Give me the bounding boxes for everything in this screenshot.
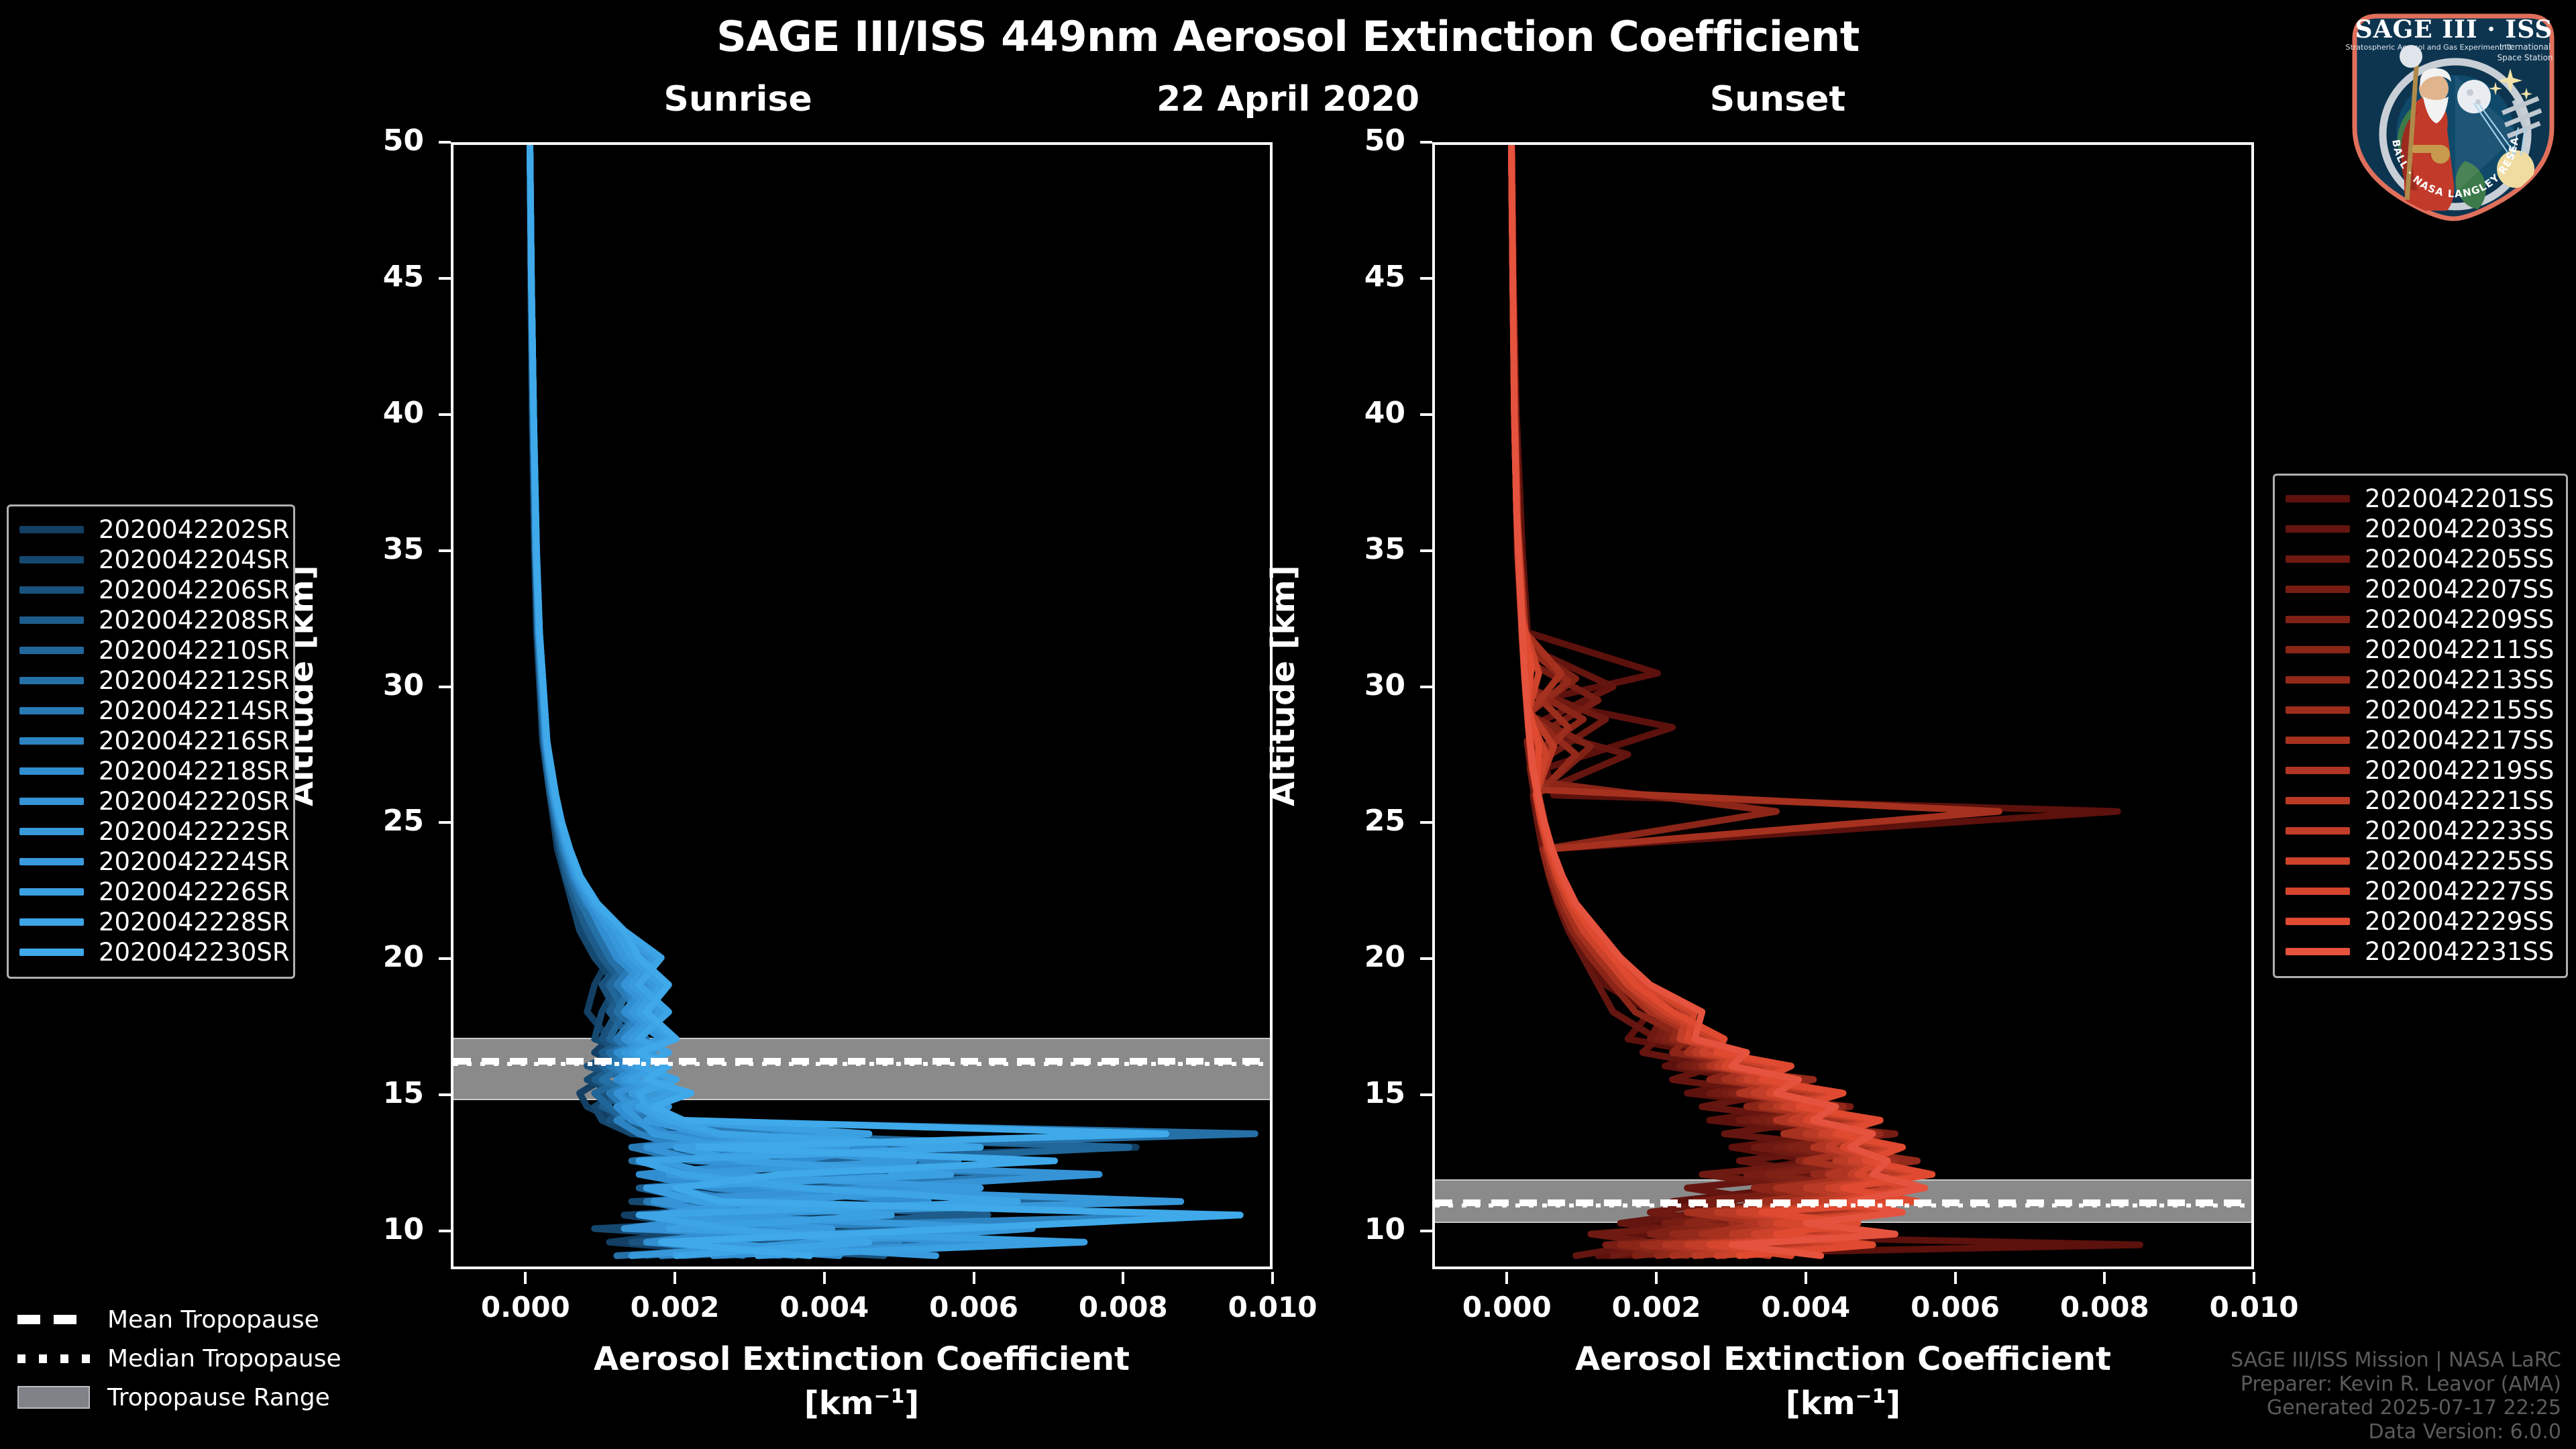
sunset-series-lines bbox=[1435, 145, 2251, 1267]
patch-subtitle-left: Stratospheric Aerosol and Gas Experiment… bbox=[2346, 43, 2512, 52]
legend-item[interactable]: 2020042203SS bbox=[2286, 514, 2554, 544]
x-tick-label: 0.010 bbox=[1199, 1291, 1346, 1324]
legend-item[interactable]: 2020042208SR bbox=[19, 605, 281, 635]
x-tick-mark bbox=[1505, 1272, 1508, 1284]
sunrise-x-axis-label: Aerosol Extinction Coefficient [km−1] bbox=[451, 1340, 1273, 1422]
legend-item-tropopause-range: Tropopause Range bbox=[5, 1378, 354, 1417]
y-tick-label: 35 bbox=[1305, 532, 1405, 566]
legend-color-swatch bbox=[2286, 827, 2350, 835]
x-tick-label: 0.002 bbox=[601, 1291, 749, 1324]
legend-color-swatch bbox=[19, 677, 84, 684]
y-tick-label: 50 bbox=[323, 123, 424, 158]
sunrise-series-lines bbox=[453, 145, 1270, 1267]
legend-item[interactable]: 2020042217SS bbox=[2286, 725, 2554, 755]
legend-item[interactable]: 2020042227SS bbox=[2286, 876, 2554, 906]
patch-subtitle-right-2: Space Station bbox=[2497, 53, 2553, 62]
legend-color-swatch bbox=[19, 647, 84, 654]
patch-belt-buckle bbox=[2431, 145, 2450, 164]
legend-item[interactable]: 2020042210SR bbox=[19, 635, 281, 665]
x-axis-unit: [km−1] bbox=[451, 1385, 1273, 1422]
x-tick-mark bbox=[1122, 1272, 1124, 1284]
y-tick-mark bbox=[1420, 277, 1432, 280]
sage-iii-iss-mission-patch-logo: BALL · NASA LANGLEY RESEARCH CENTER · TA… bbox=[2343, 3, 2564, 224]
y-tick-mark bbox=[439, 1230, 451, 1232]
x-tick-mark bbox=[1805, 1272, 1807, 1284]
y-tick-label: 45 bbox=[323, 260, 424, 294]
footer-line-mission: SAGE III/ISS Mission | NASA LaRC bbox=[2231, 1348, 2561, 1372]
x-tick-label: 0.002 bbox=[1582, 1291, 1730, 1324]
legend-series-label: 2020042226SR bbox=[99, 877, 290, 906]
legend-item[interactable]: 2020042228SR bbox=[19, 907, 281, 937]
legend-item[interactable]: 2020042207SS bbox=[2286, 574, 2554, 604]
legend-item-median-tropopause: Median Tropopause bbox=[5, 1339, 354, 1378]
legend-color-swatch bbox=[19, 828, 84, 835]
x-tick-mark bbox=[674, 1272, 676, 1284]
figure-date: 22 April 2020 bbox=[0, 79, 2576, 119]
y-tick-label: 50 bbox=[1305, 123, 1405, 158]
legend-item[interactable]: 2020042220SR bbox=[19, 786, 281, 816]
y-tick-label: 40 bbox=[1305, 396, 1405, 430]
patch-title-text: SAGE III · ISS bbox=[2355, 15, 2553, 44]
legend-series-label: 2020042222SR bbox=[99, 817, 290, 846]
sunset-panel-title: Sunset bbox=[1644, 79, 1912, 119]
legend-series-label: 2020042205SS bbox=[2365, 545, 2554, 574]
y-tick-mark bbox=[439, 686, 451, 688]
legend-item[interactable]: 2020042230SR bbox=[19, 937, 281, 967]
legend-item[interactable]: 2020042216SR bbox=[19, 726, 281, 756]
legend-color-swatch bbox=[19, 888, 84, 896]
legend-item[interactable]: 2020042211SS bbox=[2286, 635, 2554, 665]
x-tick-label: 0.006 bbox=[1882, 1291, 2029, 1324]
y-tick-mark bbox=[1420, 1093, 1432, 1096]
y-tick-mark bbox=[439, 821, 451, 824]
legend-item[interactable]: 2020042222SR bbox=[19, 816, 281, 847]
legend-color-swatch bbox=[2286, 555, 2350, 563]
y-tick-mark bbox=[1420, 413, 1432, 416]
footer-line-version: Data Version: 6.0.0 bbox=[2231, 1420, 2561, 1444]
legend-series-label: 2020042206SR bbox=[99, 576, 290, 604]
sunrise-plot-area bbox=[451, 142, 1273, 1269]
legend-color-swatch bbox=[19, 767, 84, 775]
sunset-legend[interactable]: 2020042201SS2020042203SS2020042205SS2020… bbox=[2273, 474, 2568, 978]
legend-series-label: 2020042220SR bbox=[99, 787, 290, 816]
figure-title: SAGE III/ISS 449nm Aerosol Extinction Co… bbox=[0, 12, 2576, 61]
sunset-plot-inner bbox=[1435, 145, 2251, 1267]
legend-label-mean: Mean Tropopause bbox=[107, 1306, 319, 1334]
y-tick-mark bbox=[439, 277, 451, 280]
legend-series-label: 2020042231SS bbox=[2365, 937, 2554, 966]
y-tick-label: 15 bbox=[323, 1076, 424, 1110]
legend-color-swatch bbox=[2286, 918, 2350, 925]
y-tick-label: 25 bbox=[1305, 804, 1405, 838]
legend-color-swatch bbox=[19, 556, 84, 563]
legend-series-label: 2020042210SR bbox=[99, 636, 290, 665]
legend-series-label: 2020042219SS bbox=[2365, 756, 2554, 785]
legend-series-label: 2020042223SS bbox=[2365, 816, 2554, 845]
y-tick-label: 30 bbox=[323, 668, 424, 702]
legend-color-swatch bbox=[2286, 646, 2350, 653]
sunset-y-axis-label: Altitude [km] bbox=[1265, 565, 1302, 806]
y-tick-label: 40 bbox=[323, 396, 424, 430]
legend-label-range: Tropopause Range bbox=[107, 1384, 330, 1411]
y-tick-mark bbox=[1420, 141, 1432, 144]
sunset-x-axis-label: Aerosol Extinction Coefficient [km−1] bbox=[1432, 1340, 2254, 1422]
legend-series-label: 2020042202SR bbox=[99, 515, 290, 544]
legend-series-label: 2020042224SR bbox=[99, 847, 290, 876]
tropopause-legend: Mean Tropopause Median Tropopause Tropop… bbox=[5, 1300, 354, 1417]
x-tick-mark bbox=[973, 1272, 975, 1284]
dashed-line-icon bbox=[17, 1315, 90, 1324]
y-tick-mark bbox=[1420, 549, 1432, 552]
y-tick-label: 20 bbox=[323, 940, 424, 974]
figure-root: SAGE III/ISS 449nm Aerosol Extinction Co… bbox=[0, 0, 2576, 1449]
patch-moon-crater-2 bbox=[2475, 99, 2481, 105]
legend-series-label: 2020042230SR bbox=[99, 938, 290, 967]
legend-color-swatch bbox=[2286, 706, 2350, 714]
y-tick-mark bbox=[1420, 1230, 1432, 1232]
x-tick-label: 0.008 bbox=[2031, 1291, 2178, 1324]
x-tick-mark bbox=[1954, 1272, 1957, 1284]
y-tick-label: 35 bbox=[323, 532, 424, 566]
legend-series-label: 2020042216SR bbox=[99, 727, 290, 755]
legend-series-label: 2020042227SS bbox=[2365, 877, 2554, 906]
legend-item[interactable]: 2020042226SR bbox=[19, 877, 281, 907]
legend-item[interactable]: 2020042202SR bbox=[19, 515, 281, 545]
legend-color-swatch bbox=[2286, 948, 2350, 955]
legend-series-label: 2020042218SR bbox=[99, 757, 290, 786]
legend-label-median: Median Tropopause bbox=[107, 1345, 341, 1373]
x-tick-mark bbox=[1271, 1272, 1274, 1284]
legend-color-swatch bbox=[19, 526, 84, 533]
legend-series-label: 2020042203SS bbox=[2365, 515, 2554, 543]
footer-line-generated: Generated 2025-07-17 22:25 bbox=[2231, 1396, 2561, 1419]
legend-color-swatch bbox=[19, 707, 84, 714]
x-tick-label: 0.006 bbox=[900, 1291, 1048, 1324]
legend-item-mean-tropopause: Mean Tropopause bbox=[5, 1300, 354, 1339]
filled-box-icon bbox=[17, 1386, 90, 1409]
legend-series-label: 2020042213SS bbox=[2365, 665, 2554, 694]
y-tick-label: 25 bbox=[323, 804, 424, 838]
legend-series-label: 2020042208SR bbox=[99, 606, 290, 635]
legend-item[interactable]: 2020042209SS bbox=[2286, 604, 2554, 635]
x-axis-label-text: Aerosol Extinction Coefficient bbox=[594, 1340, 1130, 1378]
x-axis-unit: [km−1] bbox=[1432, 1385, 2254, 1422]
x-tick-mark bbox=[823, 1272, 826, 1284]
legend-item[interactable]: 2020042225SS bbox=[2286, 846, 2554, 876]
y-tick-mark bbox=[1420, 957, 1432, 960]
x-tick-label: 0.004 bbox=[751, 1291, 898, 1324]
median-tropopause-line bbox=[1435, 1203, 2251, 1207]
legend-series-label: 2020042201SS bbox=[2365, 484, 2554, 513]
y-tick-mark bbox=[1420, 821, 1432, 824]
legend-item[interactable]: 2020042215SS bbox=[2286, 695, 2554, 725]
y-tick-label: 15 bbox=[1305, 1076, 1405, 1110]
legend-color-swatch bbox=[19, 949, 84, 956]
legend-series-label: 2020042217SS bbox=[2365, 726, 2554, 755]
footer-line-preparer: Preparer: Kevin R. Leavor (AMA) bbox=[2231, 1373, 2561, 1396]
sunrise-legend[interactable]: 2020042202SR2020042204SR2020042206SR2020… bbox=[7, 504, 295, 979]
legend-series-label: 2020042207SS bbox=[2365, 575, 2554, 604]
legend-color-swatch bbox=[19, 798, 84, 805]
legend-item[interactable]: 2020042231SS bbox=[2286, 936, 2554, 967]
legend-color-swatch bbox=[19, 858, 84, 865]
x-tick-mark bbox=[524, 1272, 527, 1284]
legend-series-label: 2020042215SS bbox=[2365, 696, 2554, 724]
legend-item[interactable]: 2020042214SR bbox=[19, 696, 281, 726]
x-tick-label: 0.010 bbox=[2180, 1291, 2328, 1324]
sunset-plot-area bbox=[1432, 142, 2254, 1269]
median-tropopause-line bbox=[453, 1062, 1270, 1066]
legend-series-label: 2020042209SS bbox=[2365, 605, 2554, 634]
y-tick-mark bbox=[1420, 686, 1432, 688]
x-tick-label: 0.004 bbox=[1732, 1291, 1880, 1324]
legend-series-label: 2020042221SS bbox=[2365, 786, 2554, 815]
x-tick-mark bbox=[2103, 1272, 2106, 1284]
legend-item[interactable]: 2020042223SS bbox=[2286, 816, 2554, 846]
x-tick-mark bbox=[2253, 1272, 2255, 1284]
sunrise-plot-inner bbox=[453, 145, 1270, 1267]
x-tick-mark bbox=[1655, 1272, 1658, 1284]
legend-series-label: 2020042212SR bbox=[99, 666, 290, 695]
y-tick-label: 30 bbox=[1305, 668, 1405, 702]
legend-series-label: 2020042225SS bbox=[2365, 847, 2554, 875]
legend-color-swatch bbox=[2286, 888, 2350, 895]
y-tick-mark bbox=[439, 1093, 451, 1096]
legend-series-label: 2020042228SR bbox=[99, 908, 290, 936]
legend-series-label: 2020042229SS bbox=[2365, 907, 2554, 936]
legend-item[interactable]: 2020042204SR bbox=[19, 545, 281, 575]
y-tick-mark bbox=[439, 549, 451, 552]
y-tick-label: 10 bbox=[1305, 1212, 1405, 1246]
legend-color-swatch bbox=[19, 737, 84, 745]
legend-color-swatch bbox=[2286, 767, 2350, 774]
legend-item[interactable]: 2020042206SR bbox=[19, 575, 281, 605]
x-axis-label-text: Aerosol Extinction Coefficient bbox=[1575, 1340, 2111, 1378]
legend-color-swatch bbox=[2286, 857, 2350, 865]
x-tick-label: 0.000 bbox=[1433, 1291, 1580, 1324]
legend-color-swatch bbox=[19, 586, 84, 594]
legend-item[interactable]: 2020042201SS bbox=[2286, 484, 2554, 514]
legend-series-label: 2020042204SR bbox=[99, 545, 290, 574]
x-tick-label: 0.008 bbox=[1049, 1291, 1197, 1324]
legend-color-swatch bbox=[2286, 586, 2350, 593]
legend-color-swatch bbox=[2286, 616, 2350, 623]
legend-color-swatch bbox=[19, 918, 84, 926]
legend-color-swatch bbox=[2286, 797, 2350, 804]
patch-moon-crater bbox=[2467, 89, 2473, 96]
legend-item[interactable]: 2020042224SR bbox=[19, 847, 281, 877]
sunrise-panel-title: Sunrise bbox=[604, 79, 872, 119]
legend-item[interactable]: 2020042229SS bbox=[2286, 906, 2554, 936]
legend-color-swatch bbox=[2286, 676, 2350, 684]
y-tick-mark bbox=[439, 957, 451, 960]
y-tick-label: 10 bbox=[323, 1212, 424, 1246]
legend-item[interactable]: 2020042221SS bbox=[2286, 786, 2554, 816]
legend-color-swatch bbox=[19, 616, 84, 624]
y-tick-mark bbox=[439, 141, 451, 144]
legend-item[interactable]: 2020042218SR bbox=[19, 756, 281, 786]
legend-item[interactable]: 2020042205SS bbox=[2286, 544, 2554, 574]
y-tick-mark bbox=[439, 413, 451, 416]
footer-credits: SAGE III/ISS Mission | NASA LaRC Prepare… bbox=[2231, 1348, 2561, 1444]
y-tick-label: 20 bbox=[1305, 940, 1405, 974]
legend-series-label: 2020042214SR bbox=[99, 696, 290, 725]
dotted-line-icon bbox=[17, 1354, 90, 1363]
legend-color-swatch bbox=[2286, 737, 2350, 744]
legend-series-label: 2020042211SS bbox=[2365, 635, 2554, 664]
y-tick-label: 45 bbox=[1305, 260, 1405, 294]
legend-color-swatch bbox=[2286, 495, 2350, 502]
legend-item[interactable]: 2020042212SR bbox=[19, 665, 281, 696]
legend-item[interactable]: 2020042213SS bbox=[2286, 665, 2554, 695]
patch-subtitle-right-1: International bbox=[2500, 42, 2551, 52]
x-tick-label: 0.000 bbox=[451, 1291, 599, 1324]
patch-moon bbox=[2457, 80, 2491, 113]
legend-item[interactable]: 2020042219SS bbox=[2286, 755, 2554, 786]
legend-color-swatch bbox=[2286, 525, 2350, 533]
